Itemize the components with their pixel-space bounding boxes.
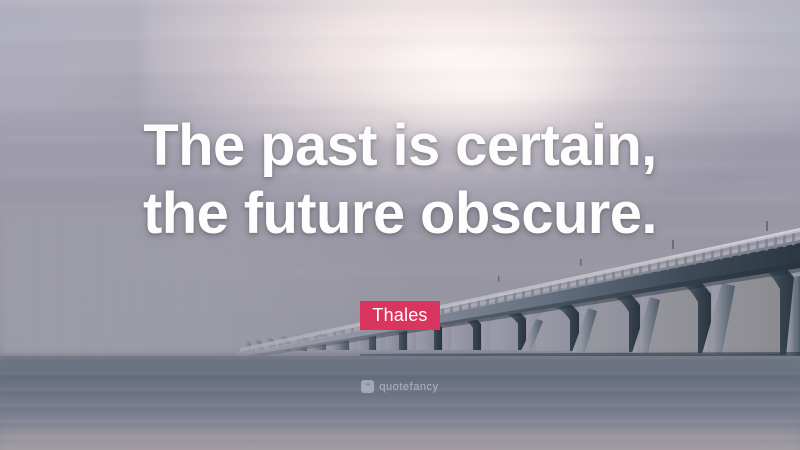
quote-image: The past is certain, the future obscure.… <box>0 0 800 450</box>
watermark-brand-label: quotefancy <box>379 381 438 393</box>
author-badge-container: Thales <box>0 301 800 330</box>
author-name-badge[interactable]: Thales <box>360 301 439 330</box>
watermark[interactable]: “ quotefancy <box>0 380 800 393</box>
water-warm-tint <box>0 416 800 450</box>
quote-mark-icon: “ <box>361 380 374 393</box>
horizon-line <box>0 352 800 362</box>
quote-text: The past is certain, the future obscure. <box>0 112 800 248</box>
